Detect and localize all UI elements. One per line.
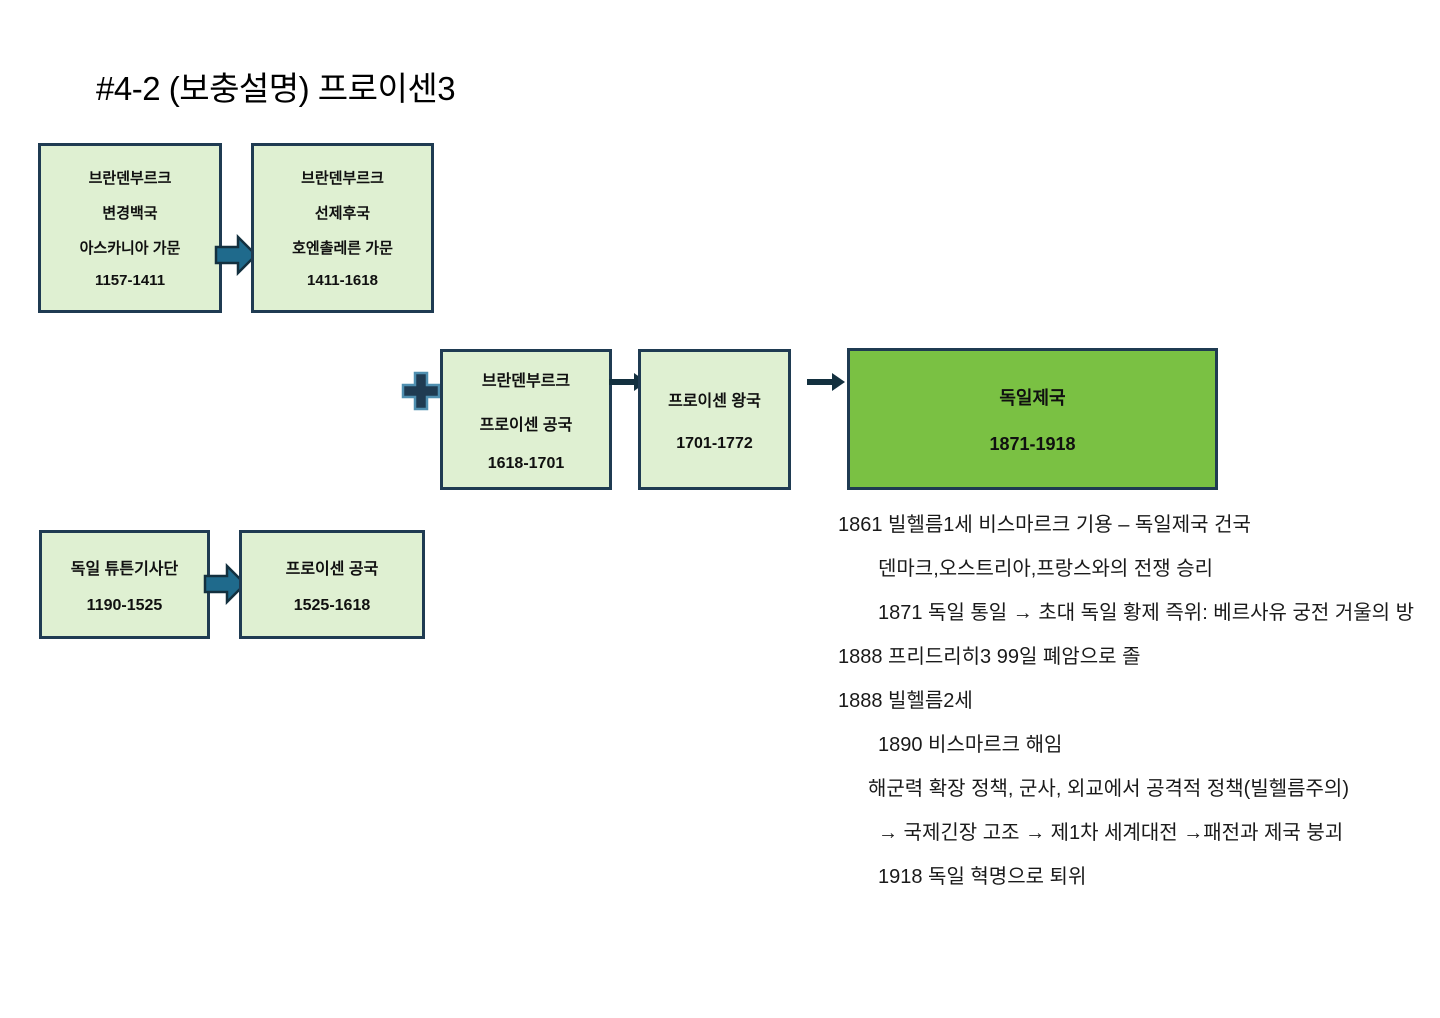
box-line: 변경백국	[102, 202, 157, 223]
box-teutonic-order: 독일 튜튼기사단 1190-1525	[39, 530, 210, 639]
note-line: 해군력 확장 정책, 군사, 외교에서 공격적 정책(빌헬름주의)	[838, 779, 1438, 799]
box-line: 아스카니아 가문	[80, 237, 181, 258]
note-line: 1888 프리드리히3 99일 폐암으로 졸	[838, 647, 1438, 667]
note-line: 1871 독일 통일 → 초대 독일 황제 즉위: 베르사유 궁전 거울의 방	[838, 603, 1438, 623]
note-line: 1888 빌헬름2세	[838, 691, 1438, 711]
plus-icon	[400, 370, 442, 412]
box-line: 1701-1772	[676, 435, 753, 453]
box-line: 선제후국	[315, 202, 370, 223]
box-line: 브란덴부르크	[301, 167, 384, 188]
box-line: 프로이센 공국	[480, 411, 573, 435]
page-title: #4-2 (보충설명) 프로이센3	[96, 62, 455, 110]
box-brandenburg-prussia: 브란덴부르크 프로이센 공국 1618-1701	[440, 349, 612, 490]
box-line: 1411-1618	[307, 272, 378, 289]
box-line: 독일제국	[999, 384, 1065, 410]
box-line: 프로이센 공국	[286, 555, 379, 579]
box-line: 1871-1918	[989, 434, 1075, 455]
box-line: 브란덴부르크	[89, 167, 172, 188]
thin-arrow-right-icon	[806, 369, 846, 395]
box-line: 1525-1618	[294, 597, 371, 615]
timeline-notes: 1861 빌헬름1세 비스마르크 기용 – 독일제국 건국 덴마크,오스트리아,…	[838, 515, 1438, 911]
box-line: 브란덴부르크	[482, 367, 570, 391]
note-line: 1918 독일 혁명으로 퇴위	[838, 867, 1438, 887]
box-kingdom-of-prussia: 프로이센 왕국 1701-1772	[638, 349, 791, 490]
box-line: 프로이센 왕국	[668, 387, 761, 411]
box-line: 1618-1701	[488, 455, 565, 473]
box-line: 호엔촐레른 가문	[292, 237, 393, 258]
note-line: 1861 빌헬름1세 비스마르크 기용 – 독일제국 건국	[838, 515, 1438, 535]
box-line: 독일 튜튼기사단	[71, 555, 179, 579]
slide-canvas: #4-2 (보충설명) 프로이센3 브란덴부르크 변경백국 아스카니아 가문 1…	[0, 0, 1440, 1018]
note-line: 1890 비스마르크 해임	[838, 735, 1438, 755]
box-duchy-of-prussia: 프로이센 공국 1525-1618	[239, 530, 425, 639]
box-line: 1190-1525	[87, 597, 163, 615]
note-line: → 국제긴장 고조 → 제1차 세계대전 →패전과 제국 붕괴	[838, 823, 1438, 843]
note-line: 덴마크,오스트리아,프랑스와의 전쟁 승리	[838, 559, 1438, 579]
box-brandenburg-electorate: 브란덴부르크 선제후국 호엔촐레른 가문 1411-1618	[251, 143, 434, 313]
box-german-empire: 독일제국 1871-1918	[847, 348, 1218, 490]
box-brandenburg-mark: 브란덴부르크 변경백국 아스카니아 가문 1157-1411	[38, 143, 222, 313]
box-line: 1157-1411	[95, 272, 165, 289]
